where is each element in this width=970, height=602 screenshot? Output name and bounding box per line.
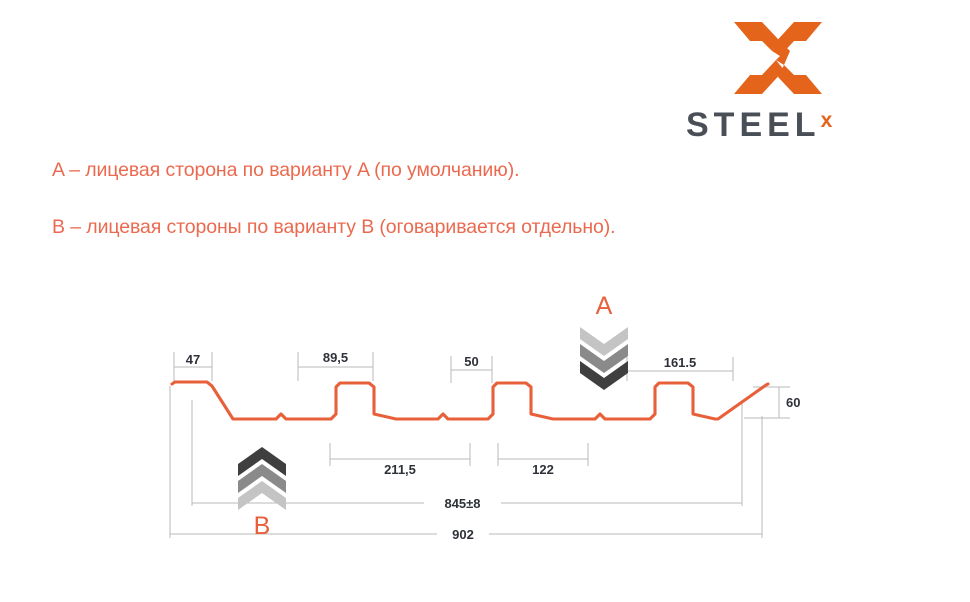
dimension-label-height: 60 <box>786 395 816 410</box>
dimension-label-flange-left: 47 <box>174 352 212 367</box>
dimension-label-rib-top: 50 <box>451 354 492 369</box>
marker-letter-a: A <box>589 292 619 321</box>
chevron-up-triple-icon <box>238 447 286 510</box>
dimension-label-working-width: 845±8 <box>424 496 501 511</box>
dimension-label-span-inner: 211,5 <box>330 462 470 477</box>
dimension-label-valley-width: 122 <box>498 462 588 477</box>
dimension-label-overall-width: 902 <box>437 527 489 542</box>
chevron-down-triple-icon <box>580 327 628 390</box>
marker-letter-b: B <box>247 512 277 541</box>
dimension-label-rib-pitch: 161.5 <box>627 355 733 370</box>
dimension-label-rib-width: 89,5 <box>298 350 373 365</box>
corrugated-profile-path <box>172 382 768 419</box>
